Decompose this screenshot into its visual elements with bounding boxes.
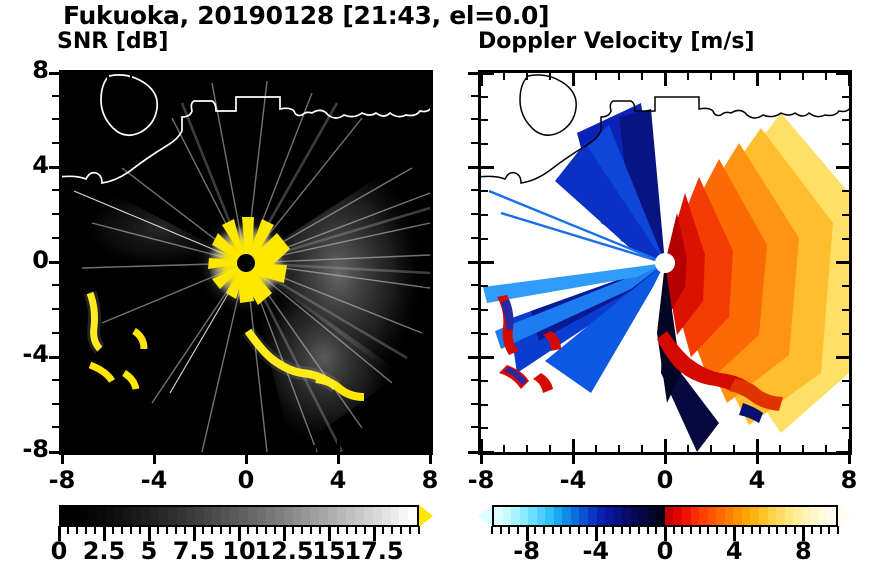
- ytick-snr-5: [62, 143, 69, 145]
- panel-title-doppler: Doppler Velocity [m/s]: [478, 29, 755, 54]
- ytick-right-snr--7: [423, 427, 430, 429]
- ytick-outm-doppler--5: [471, 379, 478, 381]
- xaxis-label-snr-4: 4: [308, 466, 368, 494]
- doppler-colorbar-segment: [588, 507, 597, 525]
- xtick-snr--7: [84, 445, 86, 452]
- ytick-doppler-2: [481, 214, 488, 216]
- xtick-top-snr-5: [360, 73, 362, 80]
- xtick-doppler--6: [526, 445, 528, 452]
- snr-colorbar-segment: [346, 507, 355, 525]
- snr-colorbar-tick: [373, 526, 376, 541]
- ytick-right-snr--2: [423, 309, 430, 311]
- snr-colorbar-tick: [274, 526, 276, 534]
- xtick-top-snr-6: [383, 73, 385, 80]
- xtick-doppler-8: [848, 439, 851, 452]
- xtick-top-snr--4: [153, 73, 156, 86]
- ytick-right-doppler--4: [836, 356, 849, 359]
- ytick-doppler-0: [481, 261, 494, 264]
- ytick-outm-doppler-2: [471, 213, 478, 215]
- ytick-doppler-1: [481, 238, 488, 240]
- ytick-snr--1: [62, 285, 69, 287]
- ytick-right-snr-7: [423, 96, 430, 98]
- xtick-doppler--4: [572, 439, 575, 452]
- ytick-outm-doppler-6: [471, 118, 478, 120]
- doppler-colorbar-segment: [571, 507, 580, 525]
- xtick-snr-7: [406, 445, 408, 452]
- doppler-colorbar-tick: [707, 526, 709, 534]
- doppler-colorbar-segment: [554, 507, 563, 525]
- ytick-snr-0: [62, 261, 75, 264]
- doppler-colorbar-segment: [656, 507, 665, 525]
- snr-colorbar-segment: [212, 507, 221, 525]
- snr-colorbar-tick: [148, 526, 151, 541]
- ytick-right-doppler--1: [842, 285, 849, 287]
- ytick-snr-7: [62, 96, 69, 98]
- doppler-colorbar-tick: [794, 526, 796, 534]
- snr-colorbar-tick: [382, 526, 384, 534]
- snr-colorbar-tick: [319, 526, 321, 534]
- doppler-plot-panel[interactable]: [478, 70, 852, 455]
- snr-colorbar-segment: [204, 507, 213, 525]
- doppler-colorbar-segment: [605, 507, 614, 525]
- snr-colorbar-segment: [114, 507, 123, 525]
- xtick-snr--1: [222, 445, 224, 452]
- doppler-colorbar-segment: [768, 507, 777, 525]
- yaxis-label-4: 4: [3, 151, 49, 179]
- ytick-right-snr--6: [423, 404, 430, 406]
- ytick-right-snr--3: [423, 333, 430, 335]
- ytick-outm-snr--7: [52, 426, 59, 428]
- snr-colorbar-segment: [106, 507, 115, 525]
- ytick-out-doppler--4: [468, 356, 478, 359]
- snr-colorbar-tick: [166, 526, 168, 534]
- xtick-snr-4: [337, 439, 340, 452]
- doppler-colorbar-tick: [578, 526, 580, 534]
- snr-colorbar-tick: [346, 526, 348, 534]
- xtick-top-snr-7: [406, 73, 408, 80]
- snr-colorbar[interactable]: [59, 505, 433, 531]
- xtick-top-snr--2: [199, 73, 201, 80]
- ytick-doppler--1: [481, 285, 488, 287]
- doppler-colorbar-segment: [494, 507, 503, 525]
- doppler-colorbar-segment: [733, 507, 742, 525]
- doppler-colorbar-segment: [528, 507, 537, 525]
- doppler-colorbar-segment: [793, 507, 802, 525]
- doppler-colorbar-tick: [785, 526, 787, 534]
- doppler-colorbar-segment: [810, 507, 819, 525]
- snr-colorbar-segment: [132, 507, 141, 525]
- ytick-right-doppler-0: [836, 261, 849, 264]
- doppler-colorbar-segment: [691, 507, 700, 525]
- snr-colorbar-tick: [229, 526, 231, 534]
- doppler-colorbar-tick: [500, 526, 502, 534]
- doppler-colorbar-tick: [638, 526, 640, 534]
- snr-colorbar-tick: [328, 526, 331, 541]
- ytick-right-snr--4: [417, 356, 430, 359]
- xtick-snr-5: [360, 445, 362, 452]
- ytick-out-snr-4: [49, 166, 59, 169]
- ytick-right-doppler-7: [842, 96, 849, 98]
- xtick-top-doppler-4: [756, 73, 759, 86]
- xtick-out-doppler-0: [664, 455, 667, 464]
- doppler-colorbar-tick: [552, 526, 554, 534]
- doppler-colorbar-segment: [716, 507, 725, 525]
- ytick-outm-snr-2: [52, 213, 59, 215]
- doppler-colorbar-segment: [520, 507, 529, 525]
- snr-colorbar-segment: [293, 507, 302, 525]
- snr-colorbar-segment: [310, 507, 319, 525]
- ytick-right-snr-0: [417, 261, 430, 264]
- doppler-colorbar-segment: [562, 507, 571, 525]
- snr-colorbar-tick: [184, 526, 186, 534]
- ytick-right-snr--1: [423, 285, 430, 287]
- snr-colorbar-segment: [61, 507, 70, 525]
- ytick-right-snr-1: [423, 238, 430, 240]
- doppler-colorbar-segment: [622, 507, 631, 525]
- ytick-snr--5: [62, 380, 69, 382]
- snr-colorbar-tick: [238, 526, 241, 541]
- xtick-top-snr-8: [429, 73, 432, 86]
- xaxis-label-snr--8: -8: [32, 466, 92, 494]
- xtick-top-snr--1: [222, 73, 224, 80]
- snr-colorbar-tick: [364, 526, 366, 534]
- ytick-doppler--4: [481, 356, 494, 359]
- doppler-colorbar-segment: [725, 507, 734, 525]
- doppler-colorbar-tick: [603, 526, 605, 534]
- doppler-colorbar-tick: [828, 526, 830, 534]
- snr-colorbar-segment: [408, 507, 417, 525]
- xaxis-label-doppler--4: -4: [543, 466, 603, 494]
- ytick-snr-8: [62, 72, 75, 75]
- doppler-colorbar-tick: [612, 526, 614, 534]
- doppler-colorbar-tick: [690, 526, 692, 534]
- doppler-colorbar-segment: [579, 507, 588, 525]
- doppler-colorbar-tick: [751, 526, 753, 534]
- doppler-colorbar-tick: [655, 526, 657, 534]
- doppler-colorbar-tick: [621, 526, 623, 534]
- ytick-out-doppler--8: [468, 451, 478, 454]
- ytick-out-snr-0: [49, 261, 59, 264]
- doppler-colorbar-label-0: 0: [625, 537, 705, 565]
- snr-colorbar-segment: [328, 507, 337, 525]
- doppler-colorbar-label--4: -4: [556, 537, 636, 565]
- doppler-colorbar-tick: [491, 526, 493, 534]
- doppler-colorbar-segment: [648, 507, 657, 525]
- snr-colorbar-segment: [70, 507, 79, 525]
- snr-colorbar-segment: [79, 507, 88, 525]
- panel-title-snr: SNR [dB]: [57, 29, 168, 54]
- xtick-doppler--1: [641, 445, 643, 452]
- snr-colorbar-segment: [141, 507, 150, 525]
- snr-colorbar-tick: [220, 526, 222, 534]
- snr-colorbar-tick: [301, 526, 303, 534]
- figure-root: Fukuoka, 20190128 [21:43, el=0.0] SNR [d…: [0, 0, 870, 570]
- doppler-colorbar-segment: [742, 507, 751, 525]
- ytick-outm-doppler-1: [471, 237, 478, 239]
- ytick-right-snr--5: [423, 380, 430, 382]
- xtick-snr--4: [153, 439, 156, 452]
- ytick-doppler-6: [481, 119, 488, 121]
- ytick-outm-snr--3: [52, 332, 59, 334]
- xtick-doppler-0: [664, 439, 667, 452]
- xtick-top-snr-2: [291, 73, 293, 80]
- doppler-colorbar-tick: [586, 526, 588, 534]
- xtick-top-doppler--7: [503, 73, 505, 80]
- ytick-doppler--2: [481, 309, 488, 311]
- ytick-out-doppler-8: [468, 72, 478, 75]
- snr-colorbar-segment: [168, 507, 177, 525]
- xtick-top-doppler--3: [595, 73, 597, 80]
- snr-colorbar-tick: [355, 526, 357, 534]
- snr-colorbar-segment: [248, 507, 257, 525]
- snr-colorbar-tick: [175, 526, 177, 534]
- ytick-out-snr-8: [49, 72, 59, 75]
- xaxis-label-doppler-8: 8: [819, 466, 870, 494]
- snr-colorbar-tick: [400, 526, 402, 534]
- xtick-doppler-2: [710, 445, 712, 452]
- xtick-out-snr--4: [153, 455, 156, 464]
- snr-colorbar-tick: [310, 526, 312, 534]
- xaxis-label-doppler-4: 4: [727, 466, 787, 494]
- doppler-colorbar-tick: [526, 526, 529, 541]
- snr-colorbar-over-arrow: [419, 505, 433, 527]
- xtick-out-snr-8: [429, 455, 432, 464]
- doppler-colorbar-segment: [545, 507, 554, 525]
- snr-colorbar-tick: [391, 526, 393, 534]
- doppler-colorbar-segment: [699, 507, 708, 525]
- snr-colorbar-segment: [382, 507, 391, 525]
- snr-colorbar-segment: [123, 507, 132, 525]
- xaxis-label-snr--4: -4: [124, 466, 184, 494]
- doppler-colorbar-segment: [682, 507, 691, 525]
- doppler-colorbar-tick: [534, 526, 536, 534]
- doppler-colorbar-tick: [664, 526, 667, 541]
- doppler-colorbar-tick: [629, 526, 631, 534]
- snr-colorbar-tick: [193, 526, 196, 541]
- ytick-outm-snr--6: [52, 403, 59, 405]
- doppler-colorbar-label-4: 4: [694, 537, 774, 565]
- ytick-doppler-5: [481, 143, 488, 145]
- ytick-snr-3: [62, 190, 69, 192]
- ytick-doppler-8: [481, 72, 494, 75]
- doppler-colorbar-bar[interactable]: [492, 505, 838, 527]
- snr-colorbar-segment: [221, 507, 230, 525]
- ytick-snr--3: [62, 333, 69, 335]
- xtick-snr-3: [314, 445, 316, 452]
- ytick-out-snr--4: [49, 356, 59, 359]
- doppler-radar-canvas: [481, 73, 849, 452]
- ytick-outm-snr-1: [52, 237, 59, 239]
- ytick-outm-snr--5: [52, 379, 59, 381]
- doppler-colorbar-segment: [511, 507, 520, 525]
- snr-colorbar-segment: [337, 507, 346, 525]
- xtick-doppler-4: [756, 439, 759, 452]
- snr-colorbar-tick: [139, 526, 141, 534]
- ytick-right-snr-2: [423, 214, 430, 216]
- snr-colorbar-segment: [266, 507, 275, 525]
- xtick-top-doppler-5: [779, 73, 781, 80]
- doppler-colorbar-tick: [716, 526, 718, 534]
- ytick-right-doppler-1: [842, 238, 849, 240]
- xtick-doppler-1: [687, 445, 689, 452]
- ytick-outm-snr--2: [52, 308, 59, 310]
- snr-colorbar-segment: [230, 507, 239, 525]
- ytick-right-doppler--6: [842, 404, 849, 406]
- doppler-colorbar-tick: [759, 526, 761, 534]
- xtick-out-doppler-4: [756, 455, 759, 464]
- snr-colorbar-tick: [103, 526, 106, 541]
- ytick-doppler-7: [481, 96, 488, 98]
- doppler-colorbar-tick: [699, 526, 701, 534]
- ytick-right-doppler--5: [842, 380, 849, 382]
- xtick-out-snr-0: [245, 455, 248, 464]
- xtick-snr--3: [176, 445, 178, 452]
- doppler-colorbar-tick: [560, 526, 562, 534]
- ytick-snr--7: [62, 427, 69, 429]
- ytick-snr--8: [62, 451, 75, 454]
- ytick-outm-doppler--6: [471, 403, 478, 405]
- ytick-snr--2: [62, 309, 69, 311]
- ytick-outm-snr-5: [52, 142, 59, 144]
- doppler-colorbar-tick: [811, 526, 813, 534]
- snr-colorbar-tick: [157, 526, 159, 534]
- doppler-colorbar-segment: [503, 507, 512, 525]
- ytick-out-doppler-0: [468, 261, 478, 264]
- ytick-snr-2: [62, 214, 69, 216]
- xaxis-label-snr-0: 0: [216, 466, 276, 494]
- doppler-colorbar-tick: [725, 526, 727, 534]
- ytick-right-doppler-5: [842, 143, 849, 145]
- doppler-colorbar-segment: [750, 507, 759, 525]
- xtick-top-snr-1: [268, 73, 270, 80]
- ytick-outm-doppler-5: [471, 142, 478, 144]
- xaxis-label-doppler--8: -8: [451, 466, 511, 494]
- snr-colorbar-segment: [364, 507, 373, 525]
- xtick-top-doppler--8: [480, 73, 483, 86]
- ytick-outm-doppler--3: [471, 332, 478, 334]
- doppler-colorbar-segment: [597, 507, 606, 525]
- doppler-colorbar-segment: [802, 507, 811, 525]
- xtick-snr-8: [429, 439, 432, 452]
- snr-colorbar-segment: [239, 507, 248, 525]
- ytick-snr--6: [62, 404, 69, 406]
- doppler-colorbar-tick: [508, 526, 510, 534]
- doppler-colorbar-tick: [681, 526, 683, 534]
- xtick-snr--2: [199, 445, 201, 452]
- ytick-outm-doppler-3: [471, 189, 478, 191]
- xtick-top-doppler--2: [618, 73, 620, 80]
- xtick-doppler--2: [618, 445, 620, 452]
- doppler-colorbar-tick: [837, 526, 839, 534]
- doppler-colorbar-tick: [776, 526, 778, 534]
- snr-colorbar-label-17.5: 17.5: [334, 537, 414, 565]
- xtick-top-doppler-7: [825, 73, 827, 80]
- snr-colorbar-tick: [409, 526, 411, 534]
- xaxis-label-doppler-0: 0: [635, 466, 695, 494]
- ytick-outm-snr-6: [52, 118, 59, 120]
- xtick-doppler-6: [802, 445, 804, 452]
- yaxis-label-8: 8: [3, 56, 49, 84]
- doppler-colorbar-label-8: 8: [763, 537, 843, 565]
- ytick-out-snr--8: [49, 451, 59, 454]
- xtick-top-doppler-8: [848, 73, 851, 86]
- snr-radar-canvas: [62, 73, 430, 452]
- snr-colorbar-tick: [256, 526, 258, 534]
- yaxis-label-0: 0: [3, 246, 49, 274]
- xtick-top-doppler--4: [572, 73, 575, 86]
- snr-colorbar-tick: [211, 526, 213, 534]
- snr-colorbar-segment: [159, 507, 168, 525]
- xtick-doppler-3: [733, 445, 735, 452]
- doppler-colorbar-tick: [517, 526, 519, 534]
- snr-colorbar-segment: [399, 507, 408, 525]
- snr-plot-panel[interactable]: [59, 70, 433, 455]
- ytick-right-snr-3: [423, 190, 430, 192]
- ytick-right-snr-6: [423, 119, 430, 121]
- xtick-out-doppler--4: [572, 455, 575, 464]
- snr-colorbar-segment: [88, 507, 97, 525]
- snr-colorbar-segment: [177, 507, 186, 525]
- ytick-outm-snr-7: [52, 95, 59, 97]
- ytick-doppler--6: [481, 404, 488, 406]
- doppler-colorbar-tick: [673, 526, 675, 534]
- doppler-colorbar-segment: [665, 507, 674, 525]
- xtick-top-snr--6: [107, 73, 109, 80]
- doppler-colorbar-segment: [776, 507, 785, 525]
- snr-colorbar-tick: [283, 526, 286, 541]
- snr-colorbar-segment: [150, 507, 159, 525]
- xtick-snr-0: [245, 439, 248, 452]
- doppler-colorbar-segment: [708, 507, 717, 525]
- ytick-right-doppler-6: [842, 119, 849, 121]
- snr-colorbar-tick: [265, 526, 267, 534]
- ytick-out-doppler-4: [468, 166, 478, 169]
- doppler-colorbar-segment: [631, 507, 640, 525]
- snr-colorbar-segment: [391, 507, 400, 525]
- xtick-top-snr--8: [61, 73, 64, 86]
- xtick-out-doppler--8: [480, 455, 483, 464]
- xtick-top-snr--3: [176, 73, 178, 80]
- snr-colorbar-tick: [85, 526, 87, 534]
- snr-colorbar-segment: [186, 507, 195, 525]
- doppler-colorbar-tick: [802, 526, 805, 541]
- xtick-top-snr-3: [314, 73, 316, 80]
- snr-colorbar-segment: [284, 507, 293, 525]
- snr-colorbar-segment: [301, 507, 310, 525]
- ytick-right-doppler--7: [842, 427, 849, 429]
- doppler-colorbar-segment: [537, 507, 546, 525]
- doppler-colorbar-segment: [673, 507, 682, 525]
- snr-colorbar-bar[interactable]: [59, 505, 419, 527]
- doppler-colorbar-tick: [820, 526, 822, 534]
- xtick-out-snr-4: [337, 455, 340, 464]
- xtick-snr-1: [268, 445, 270, 452]
- xtick-snr--6: [107, 445, 109, 452]
- ytick-outm-snr--1: [52, 284, 59, 286]
- snr-colorbar-tick: [67, 526, 69, 534]
- xtick-doppler--5: [549, 445, 551, 452]
- doppler-colorbar-segment: [614, 507, 623, 525]
- ytick-right-doppler--2: [842, 309, 849, 311]
- snr-colorbar-segment: [319, 507, 328, 525]
- xtick-top-snr-4: [337, 73, 340, 86]
- xtick-doppler-7: [825, 445, 827, 452]
- page-title: Fukuoka, 20190128 [21:43, el=0.0]: [63, 1, 549, 30]
- ytick-outm-doppler--1: [471, 284, 478, 286]
- snr-colorbar-tick: [58, 526, 61, 541]
- ytick-doppler--8: [481, 451, 494, 454]
- xtick-top-snr-0: [245, 73, 248, 86]
